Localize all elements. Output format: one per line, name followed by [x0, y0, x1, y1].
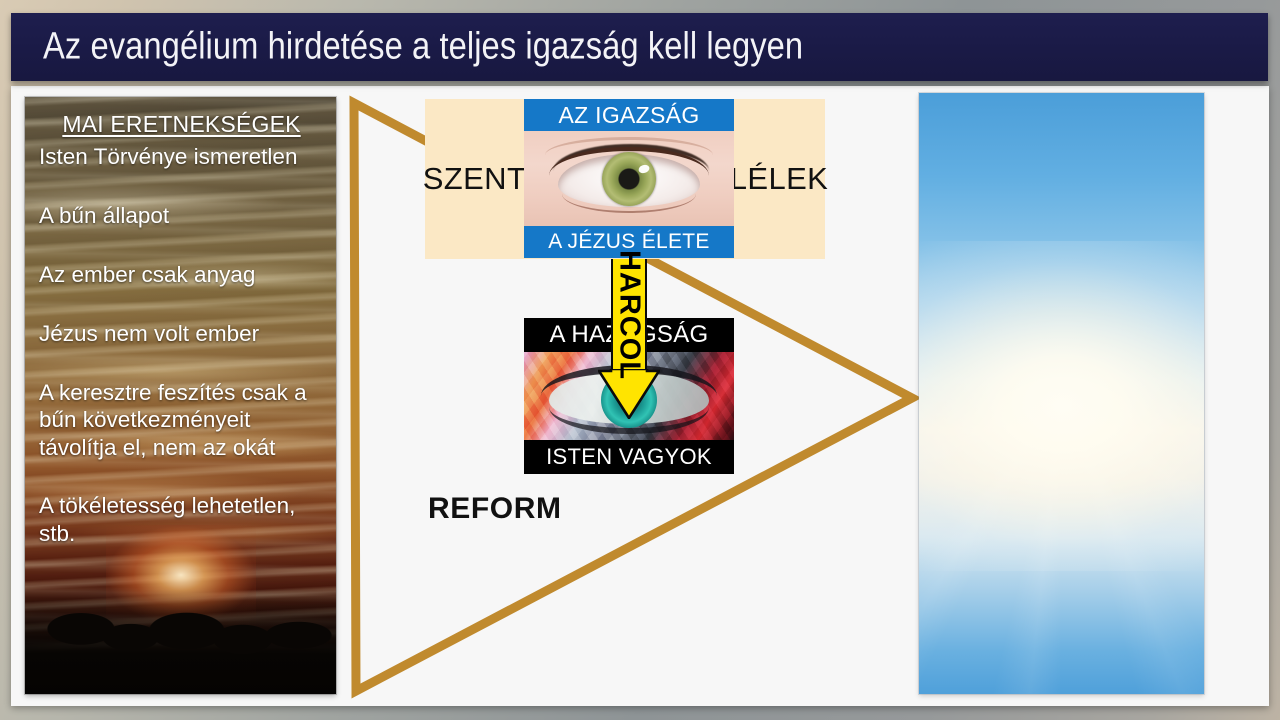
cream-label-left: SZENT: [425, 99, 524, 259]
page-title: Az evangélium hirdetése a teljes igazság…: [43, 26, 803, 69]
light-glow: [919, 241, 1204, 571]
realistic-eye-graphic: [524, 131, 734, 226]
lie-banner-bottom: ISTEN VAGYOK: [524, 440, 734, 474]
slide-title-bar: Az evangélium hirdetése a teljes igazság…: [11, 13, 1268, 81]
heresy-item-5: A keresztre feszítés csak a bűn következ…: [39, 379, 324, 463]
slide-canvas: Az evangélium hirdetése a teljes igazság…: [0, 0, 1280, 720]
truth-eye-card: AZ IGAZSÁG A JÉZUS ÉLETE: [524, 99, 734, 258]
heresy-item-6: A tökéletesség lehetetlen, stb.: [39, 492, 324, 548]
heresy-item-1: Isten Törvénye ismeretlen: [39, 143, 324, 171]
realistic-eye-image: [524, 131, 734, 226]
heresies-panel: MAI ERETNEKSÉGEK Isten Törvénye ismeretl…: [25, 97, 336, 694]
heresies-text-block: MAI ERETNEKSÉGEK Isten Törvénye ismeretl…: [25, 97, 336, 694]
cream-label-right: LÉLEK: [733, 99, 825, 259]
truth-banner-top: AZ IGAZSÁG: [524, 99, 734, 131]
heresy-item-2: A bűn állapot: [39, 202, 324, 230]
heresies-heading: MAI ERETNEKSÉGEK: [39, 111, 324, 138]
lower-eyelid: [562, 194, 696, 213]
arrow-label: HARCOL: [613, 250, 646, 380]
harcol-arrow: HARCOL: [598, 259, 660, 419]
sky-light-panel: [919, 93, 1204, 694]
heresy-item-3: Az ember csak anyag: [39, 261, 324, 289]
heresy-item-4: Jézus nem volt ember: [39, 320, 324, 348]
reform-label: REFORM: [428, 492, 562, 526]
